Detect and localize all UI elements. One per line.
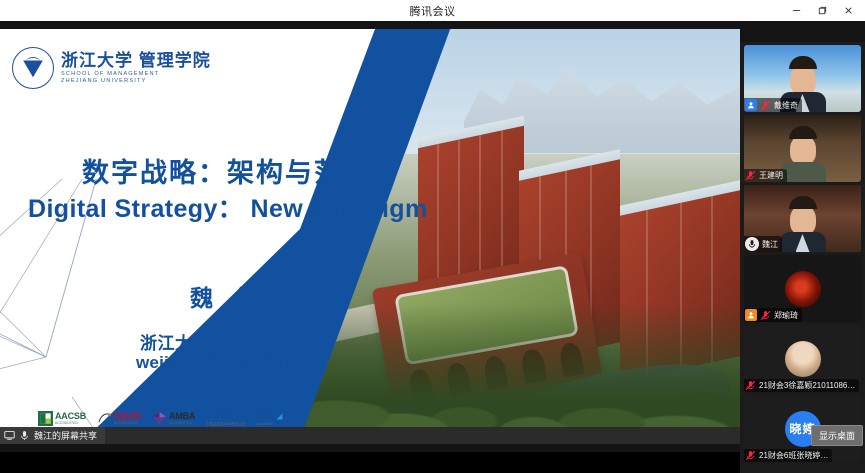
iqa-mark-icon — [275, 412, 284, 421]
amba-mark-icon — [152, 411, 167, 426]
screen-share-indicator[interactable]: 魏江的屏幕共享 — [0, 427, 105, 444]
logo-english-name: SCHOOL OF MANAGEMENT ZHEJIANG UNIVERSITY — [61, 72, 211, 84]
amba-name: AMBA — [169, 412, 195, 421]
equis-sub: ACCREDITED — [114, 422, 141, 425]
slide-title-english: Digital Strategy： New Paradigm — [28, 189, 428, 225]
participant-tile[interactable]: 王建明 — [744, 115, 861, 182]
participant-name: 郑瑜琦 — [774, 310, 798, 321]
cohost-badge-icon — [745, 309, 757, 321]
mic-muted-icon — [745, 380, 756, 391]
equis-label: EQUIS ACCREDITED — [114, 412, 141, 425]
iqa-sub: Accredited — [256, 423, 273, 426]
aacsb-name: AACSB — [55, 412, 86, 421]
participant-tile[interactable]: 戴维奇 — [744, 45, 861, 112]
logo-english-line-2: ZHEJIANG UNIVERSITY — [61, 79, 211, 85]
camea-sub: 中国高质量MBA教育认证 — [206, 423, 245, 426]
zju-seal-icon — [12, 47, 54, 89]
participant-name: 王建明 — [759, 170, 783, 181]
restore-button[interactable] — [809, 0, 835, 21]
monitor-icon — [4, 430, 15, 441]
microphone-icon — [19, 430, 30, 441]
photo-tree-line — [280, 303, 740, 444]
accreditation-aacsb: AACSB ACCREDITED — [38, 411, 86, 426]
slide-email: weijiang@zju.edu.cn — [136, 353, 307, 373]
accreditation-amba: AMBA ACCREDITED — [152, 411, 195, 426]
accreditation-logos: AACSB ACCREDITED EQUIS ACCREDITED — [38, 411, 284, 426]
participant-tile[interactable]: 21财会3徐嘉颖21011086… — [744, 325, 861, 392]
close-button[interactable] — [835, 0, 861, 21]
participant-nameplate: 戴维奇 — [744, 98, 802, 112]
participant-avatar — [785, 271, 821, 307]
window-title-bar: 腾讯会议 — [0, 0, 865, 22]
minimize-button[interactable] — [783, 0, 809, 21]
equis-name: EQUIS — [114, 412, 141, 421]
participant-name: 21财会3徐嘉颖21011086… — [759, 380, 855, 391]
iqa-name: IQA — [256, 412, 273, 422]
zju-som-logo: 浙江大学 管理学院 SCHOOL OF MANAGEMENT ZHEJIANG … — [12, 47, 211, 89]
window-controls — [783, 0, 861, 21]
close-icon — [843, 5, 854, 16]
participant-nameplate: 王建明 — [744, 169, 787, 182]
participant-nameplate: 魏江 — [744, 236, 782, 252]
slide-affiliation: 浙江大学管理学院 — [140, 329, 280, 354]
camea-label: CAMEA 中国高质量MBA教育认证 — [206, 412, 245, 426]
meeting-stage: 浙江大学 管理学院 SCHOOL OF MANAGEMENT ZHEJIANG … — [0, 21, 865, 452]
participant-figure — [780, 196, 826, 252]
screen-share-label: 魏江的屏幕共享 — [34, 429, 97, 442]
participant-avatar — [785, 341, 821, 377]
amba-label: AMBA ACCREDITED — [169, 412, 195, 425]
logo-english-line-1: SCHOOL OF MANAGEMENT — [61, 72, 211, 78]
equis-mark-icon — [97, 411, 112, 426]
accreditation-equis: EQUIS ACCREDITED — [97, 411, 141, 426]
logo-chinese-name: 浙江大学 管理学院 — [61, 52, 211, 69]
mic-muted-icon — [745, 170, 756, 181]
participant-nameplate: 21财会3徐嘉颖21011086… — [744, 379, 859, 392]
window-title: 腾讯会议 — [410, 3, 456, 19]
participant-nameplate: 21财会6班张晓婷… — [744, 449, 832, 462]
restore-icon — [817, 5, 828, 16]
iqa-label: IQA Accredited — [256, 412, 273, 426]
accreditation-camea: CAMEA 中国高质量MBA教育认证 — [206, 412, 245, 426]
aacsb-mark-icon — [38, 411, 53, 426]
amba-sub: ACCREDITED — [169, 422, 195, 425]
minimize-icon — [791, 5, 802, 16]
slide-presenter-name: 魏 江 — [190, 279, 269, 313]
participant-nameplate: 郑瑜琦 — [744, 308, 802, 322]
tencent-meeting-window: 腾讯会议 — [0, 0, 865, 452]
participant-tile[interactable]: 魏江 — [744, 185, 861, 252]
participant-rail[interactable]: 戴维奇 王建明 — [740, 42, 865, 473]
mic-active-icon — [745, 237, 759, 251]
logo-text-block: 浙江大学 管理学院 SCHOOL OF MANAGEMENT ZHEJIANG … — [61, 52, 211, 84]
show-desktop-button[interactable]: 显示桌面 — [811, 425, 863, 446]
host-badge-icon — [745, 99, 757, 111]
aacsb-label: AACSB ACCREDITED — [55, 412, 86, 425]
participant-tile[interactable]: 郑瑜琦 — [744, 255, 861, 322]
mic-muted-icon — [760, 310, 771, 321]
camea-name: CAMEA — [206, 412, 245, 422]
aacsb-sub: ACCREDITED — [55, 422, 86, 425]
mic-muted-icon — [760, 100, 771, 111]
screen-share-bar: 魏江的屏幕共享 — [0, 427, 740, 444]
participant-name: 戴维奇 — [774, 100, 798, 111]
slide-title-chinese: 数字战略：架构与范式 — [82, 151, 372, 190]
accreditation-iqa: IQA Accredited — [256, 412, 284, 426]
shared-screen-slide[interactable]: 浙江大学 管理学院 SCHOOL OF MANAGEMENT ZHEJIANG … — [0, 29, 740, 444]
participant-name: 魏江 — [762, 239, 778, 250]
